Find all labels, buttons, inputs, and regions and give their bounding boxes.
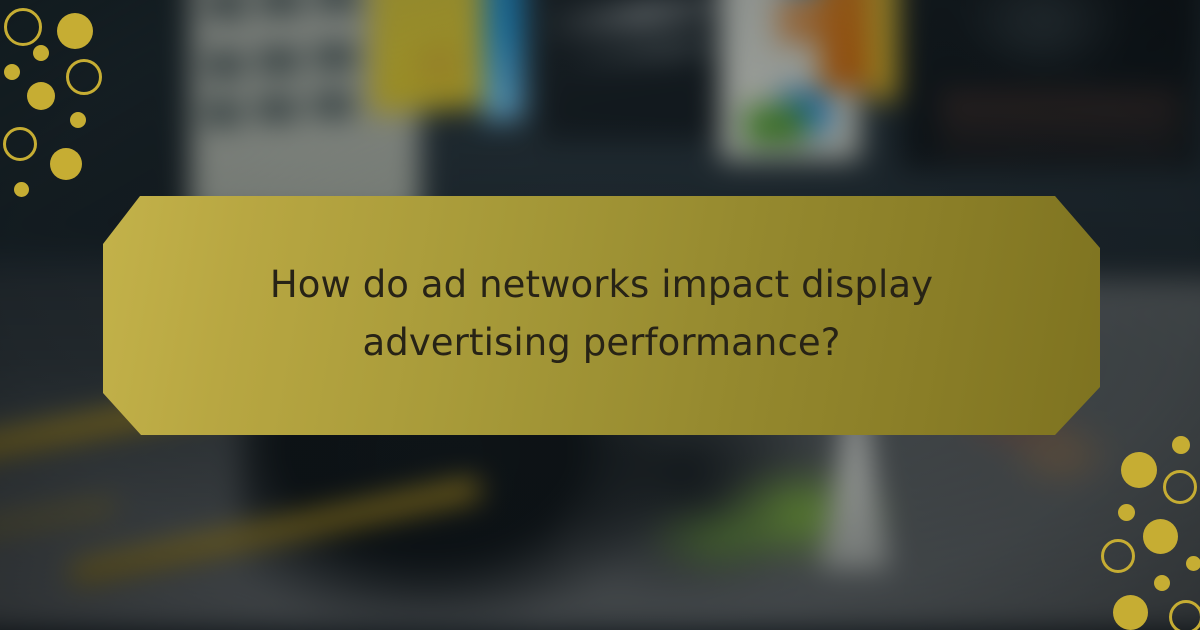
decor-circle-solid-br bbox=[1154, 575, 1170, 591]
decor-circle-solid-br bbox=[1121, 452, 1157, 488]
decor-circle-solid-br bbox=[1118, 504, 1135, 521]
headline-card: How do ad networks impact display advert… bbox=[103, 196, 1100, 435]
decor-circle-solid-br bbox=[1172, 436, 1190, 454]
decor-circle-solid-br bbox=[1113, 595, 1148, 630]
decor-circle-ring-br bbox=[1101, 539, 1135, 573]
decor-circle-ring-br bbox=[1169, 600, 1200, 630]
decor-circle-solid-br bbox=[1143, 519, 1178, 554]
hero-card-canvas: How do ad networks impact display advert… bbox=[0, 0, 1200, 630]
decor-circle-solid-br bbox=[1186, 556, 1200, 571]
headline-text: How do ad networks impact display advert… bbox=[222, 256, 982, 375]
decor-circle-ring-br bbox=[1163, 470, 1197, 504]
